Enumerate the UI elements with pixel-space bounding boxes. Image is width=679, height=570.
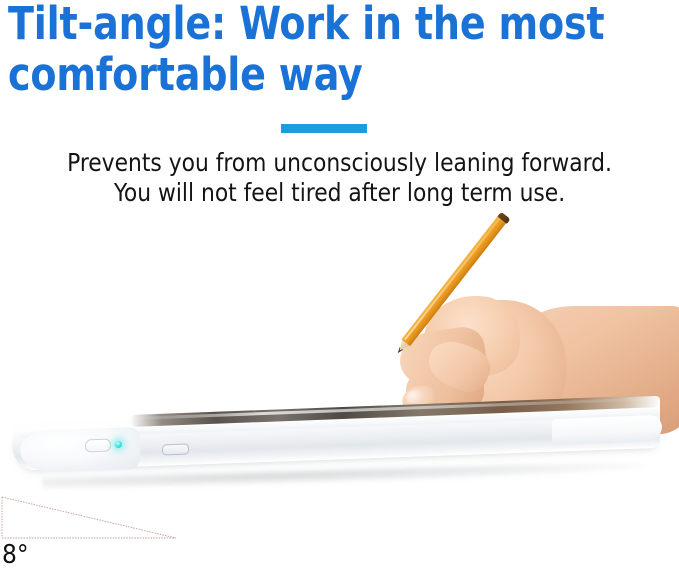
power-button[interactable] — [85, 439, 111, 453]
tilt-angle-triangle — [0, 490, 200, 542]
tablet-front-edge — [20, 427, 140, 473]
triangle-hypotenuse — [2, 497, 176, 538]
usb-c-port[interactable] — [162, 444, 189, 456]
subtitle-line-1: Prevents you from unconsciously leaning … — [10, 148, 669, 178]
tilt-angle-label: 8° — [2, 541, 29, 569]
product-photo — [0, 230, 679, 490]
subtitle-line-2: You will not feel tired after long term … — [10, 178, 669, 208]
subtitle: Prevents you from unconsciously leaning … — [10, 148, 669, 208]
page-title: Tilt-angle: Work in the most comfortable… — [8, 0, 636, 100]
status-led-icon — [115, 441, 122, 448]
accent-divider — [281, 124, 367, 133]
tablet-rear-taper — [552, 415, 662, 445]
product-feature-banner: Tilt-angle: Work in the most comfortable… — [0, 0, 679, 569]
